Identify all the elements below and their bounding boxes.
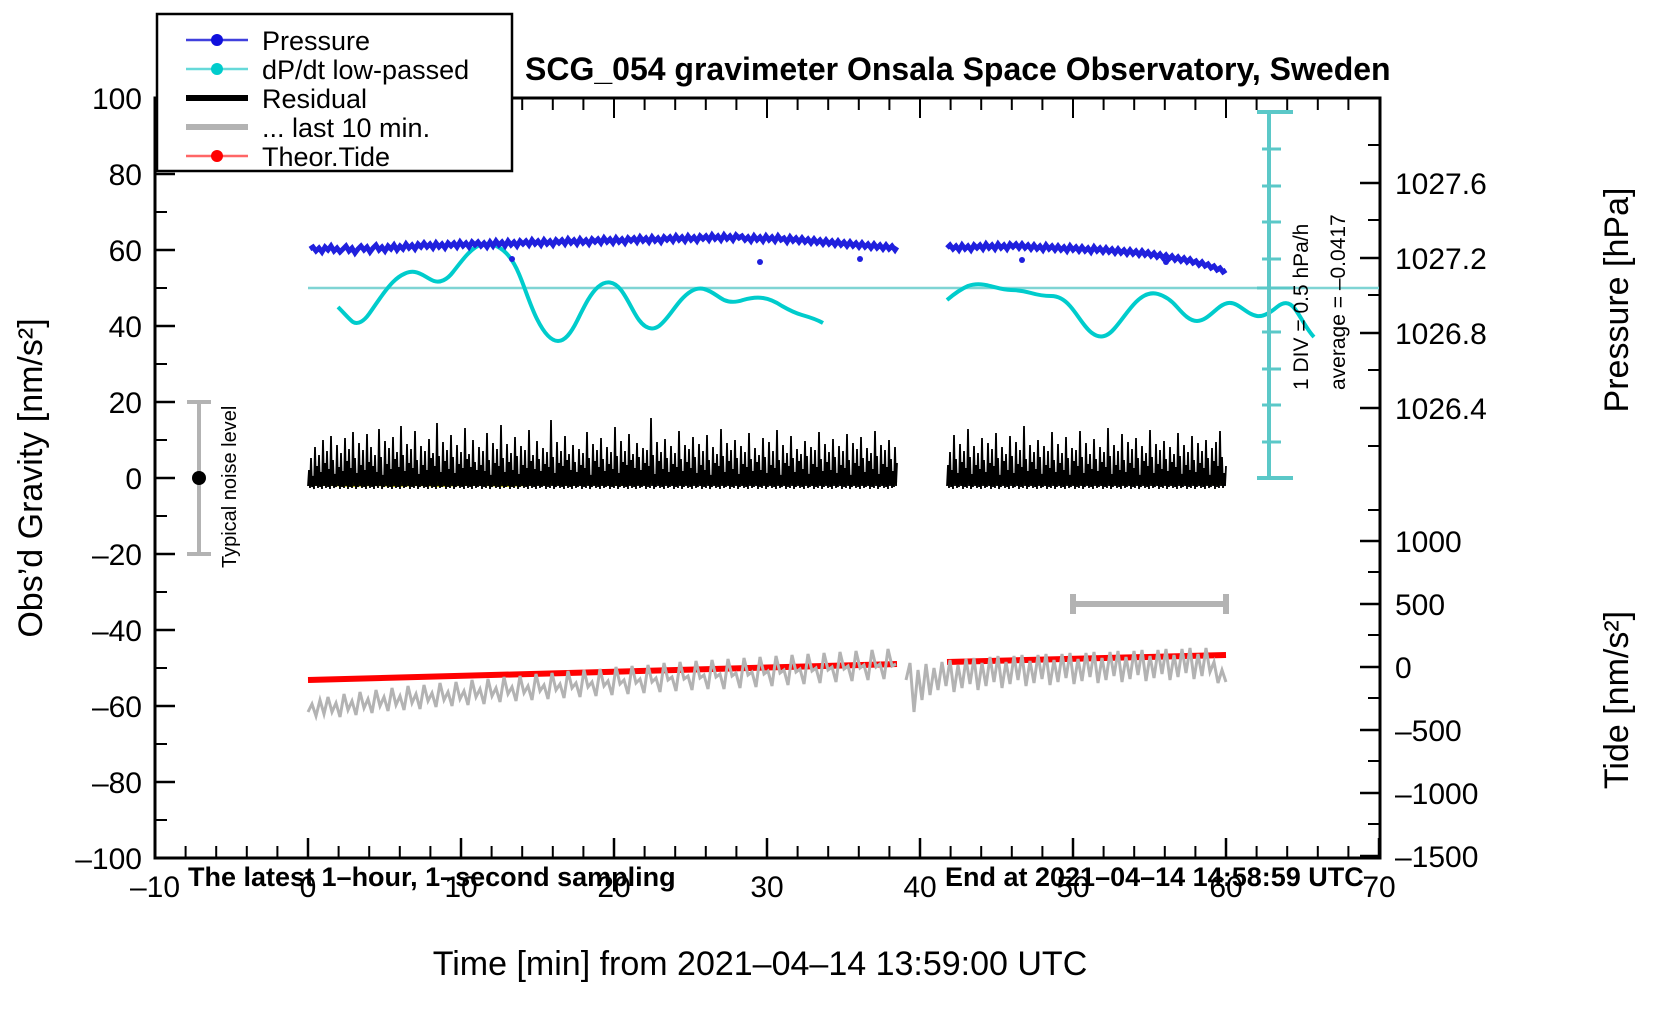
y-tick-label: 60 [109, 235, 142, 268]
y-tick-label: –60 [92, 691, 142, 724]
tide-tick-label: –500 [1395, 715, 1462, 748]
scale-average-label: average = –0.0417 [1327, 214, 1350, 390]
y-tick-label: 80 [109, 159, 142, 192]
y-tick-label: 100 [92, 83, 142, 116]
legend-marker-dot [211, 63, 223, 75]
scale-div-label: 1 DIV = 0.5 hPa/h [1290, 224, 1313, 390]
y-right-tide-title: Tide [nm/s²] [1598, 611, 1636, 789]
y-tick-label: 40 [109, 311, 142, 344]
y-tick-label: 20 [109, 387, 142, 420]
legend[interactable]: Pressure dP/dt low-passed Residual ... l… [157, 14, 512, 172]
x-axis-title: Time [min] from 2021–04–14 13:59:00 UTC [433, 945, 1088, 983]
y-left-axis-title: Obs’d Gravity [nm/s²] [12, 318, 50, 637]
footer-right-note: End at 2021–04–14 14:58:59 UTC [945, 862, 1364, 892]
legend-label: Residual [262, 84, 367, 114]
legend-marker-dot [211, 150, 223, 162]
pressure-tick-label: 1027.6 [1395, 168, 1487, 201]
pressure-tick-label: 1027.2 [1395, 243, 1487, 276]
y-tick-label: –20 [92, 539, 142, 572]
tide-tick-label: –1500 [1395, 841, 1478, 874]
gravimeter-plot: –10 0 10 20 30 40 50 60 70 Time [min] fr… [0, 0, 1660, 1020]
y-tick-label: 0 [125, 463, 142, 496]
legend-label: dP/dt low-passed [262, 55, 469, 85]
x-tick-label: 30 [750, 871, 783, 904]
y-tick-label: –40 [92, 615, 142, 648]
pressure-tick-label: 1026.4 [1395, 393, 1487, 426]
legend-label: Pressure [262, 26, 370, 56]
tide-tick-label: 500 [1395, 589, 1445, 622]
footer-left-note: The latest 1–hour, 1–second sampling [188, 862, 676, 892]
page-title: SCG_054 gravimeter Onsala Space Observat… [525, 51, 1391, 87]
tide-tick-label: 0 [1395, 652, 1412, 685]
y-right-pressure-title: Pressure [hPa] [1598, 188, 1636, 413]
y-tick-label: –80 [92, 767, 142, 800]
legend-label: Theor.Tide [262, 142, 390, 172]
typical-noise-label: Typical noise level [219, 406, 241, 568]
tide-tick-label: 1000 [1395, 526, 1462, 559]
legend-marker-dot [211, 34, 223, 46]
x-tick-label: 40 [903, 871, 936, 904]
x-tick-label: 70 [1362, 871, 1395, 904]
y-tick-label: –100 [75, 843, 142, 876]
pressure-tick-label: 1026.8 [1395, 318, 1487, 351]
legend-label: ... last 10 min. [262, 113, 430, 143]
tide-tick-label: –1000 [1395, 778, 1478, 811]
